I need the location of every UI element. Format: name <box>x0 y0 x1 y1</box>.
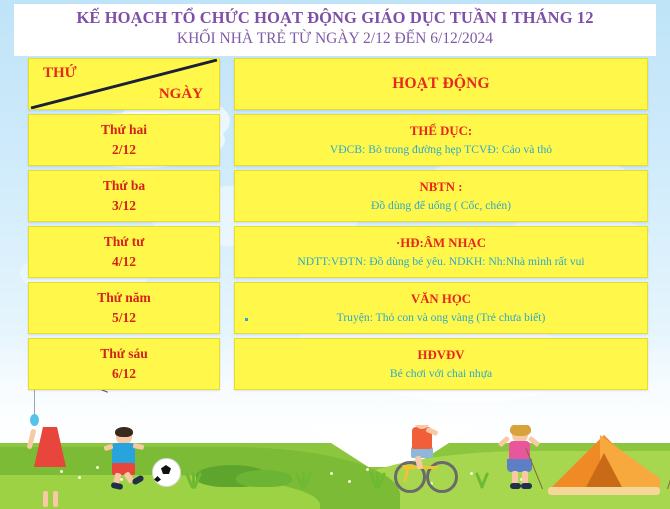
activity-title: ·HĐ:ÂM NHẠC <box>396 234 486 253</box>
header-label-activity: HOẠT ĐỘNG <box>392 75 490 93</box>
header-cell-activity: HOẠT ĐỘNG <box>234 58 648 110</box>
day-date: 5/12 <box>112 308 136 328</box>
table-row: Thứ tư 4/12 ·HĐ:ÂM NHẠC NDTT:VĐTN: Đồ dù… <box>0 226 670 278</box>
activity-cell: THỂ DỤC: VĐCB: Bò trong đường hẹp TCVĐ: … <box>234 114 648 166</box>
activity-title: NBTN : <box>419 178 462 197</box>
day-name: Thứ hai <box>101 120 147 140</box>
day-cell: Thứ tư 4/12 <box>28 226 220 278</box>
table-row: Thứ năm 5/12 VĂN HỌC Truyện: Thỏ con và … <box>0 282 670 334</box>
boy-soccer-icon <box>100 429 150 487</box>
tent-base-shape <box>548 487 660 495</box>
girl-pink-shirt-icon <box>500 427 540 491</box>
arm-shape <box>27 429 37 450</box>
day-date: 6/12 <box>112 364 136 384</box>
day-date: 2/12 <box>112 140 136 160</box>
activity-detail: Đồ dùng để uống ( Cốc, chén) <box>371 197 511 214</box>
day-cell: Thứ năm 5/12 <box>28 282 220 334</box>
activity-detail: Bé chơi với chai nhựa <box>390 365 492 382</box>
bike-seat-shape <box>402 465 414 469</box>
day-cell: Thứ sáu 6/12 <box>28 338 220 390</box>
table-header-row: THỨ NGÀY HOẠT ĐỘNG <box>0 58 670 110</box>
activity-detail: VĐCB: Bò trong đường hẹp TCVĐ: Cáo và th… <box>330 141 552 158</box>
camping-tent-icon <box>548 433 664 495</box>
activity-cell: ·HĐ:ÂM NHẠC NDTT:VĐTN: Đồ dùng bé yêu. N… <box>234 226 648 278</box>
day-date: 4/12 <box>112 252 136 272</box>
header-cell-day-date: THỨ NGÀY <box>28 58 220 110</box>
activity-detail: Truyện: Thỏ con và ong vàng (Trẻ chưa bi… <box>337 309 546 326</box>
table-row: Thứ hai 2/12 THỂ DỤC: VĐCB: Bò trong đườ… <box>0 114 670 166</box>
dress-shape <box>34 427 66 467</box>
shirt-shape <box>112 443 135 465</box>
day-name: Thứ tư <box>104 232 145 252</box>
day-cell: Thứ hai 2/12 <box>28 114 220 166</box>
activity-cell: VĂN HỌC Truyện: Thỏ con và ong vàng (Trẻ… <box>234 282 648 334</box>
header-label-ngay: NGÀY <box>159 86 203 103</box>
day-name: Thứ sáu <box>100 344 148 364</box>
shoe-shape <box>510 483 521 489</box>
activity-title: VĂN HỌC <box>411 290 471 309</box>
activity-detail: NDTT:VĐTN: Đồ dùng bé yêu. NDKH: Nh:Nhà … <box>297 253 584 270</box>
hair-shape <box>510 425 531 436</box>
table-row: Thứ ba 3/12 NBTN : Đồ dùng để uống ( Cốc… <box>0 170 670 222</box>
day-name: Thứ ba <box>103 176 145 196</box>
activity-table: THỨ NGÀY HOẠT ĐỘNG Thứ hai 2/12 THỂ DỤC:… <box>0 58 670 394</box>
weekly-activity-plan-poster: KẾ HOẠCH TỔ CHỨC HOẠT ĐỘNG GIÁO DỤC TUẦN… <box>0 0 670 509</box>
table-row: Thứ sáu 6/12 HĐVĐV Bé chơi với chai nhựa <box>0 338 670 390</box>
title-banner: KẾ HOẠCH TỔ CHỨC HOẠT ĐỘNG GIÁO DỤC TUẦN… <box>14 4 656 56</box>
bush-icon <box>236 470 292 487</box>
bullet-marker-icon <box>245 318 248 321</box>
day-name: Thứ năm <box>97 288 151 308</box>
child-bicycle-icon <box>392 425 462 493</box>
header-label-thu: THỨ <box>43 65 77 82</box>
hair-shape <box>115 427 133 437</box>
shoe-shape <box>521 483 532 489</box>
leg-shape <box>43 491 48 507</box>
soccer-ball-icon <box>152 458 181 487</box>
outdoor-scene-illustration <box>0 425 670 509</box>
shoe-shape <box>131 474 144 485</box>
page-title: KẾ HOẠCH TỔ CHỨC HOẠT ĐỘNG GIÁO DỤC TUẦN… <box>14 4 656 29</box>
activity-cell: NBTN : Đồ dùng để uống ( Cốc, chén) <box>234 170 648 222</box>
activity-title: HĐVĐV <box>418 346 465 365</box>
girl-red-dress-icon <box>30 427 70 493</box>
leg-shape <box>53 491 58 507</box>
skirt-shape <box>507 459 532 472</box>
day-cell: Thứ ba 3/12 <box>28 170 220 222</box>
page-subtitle: KHỐI NHÀ TRẺ TỪ NGÀY 2/12 ĐẾN 6/12/2024 <box>14 29 656 49</box>
activity-cell: HĐVĐV Bé chơi với chai nhựa <box>234 338 648 390</box>
activity-title: THỂ DỤC: <box>410 122 472 141</box>
day-date: 3/12 <box>112 196 136 216</box>
